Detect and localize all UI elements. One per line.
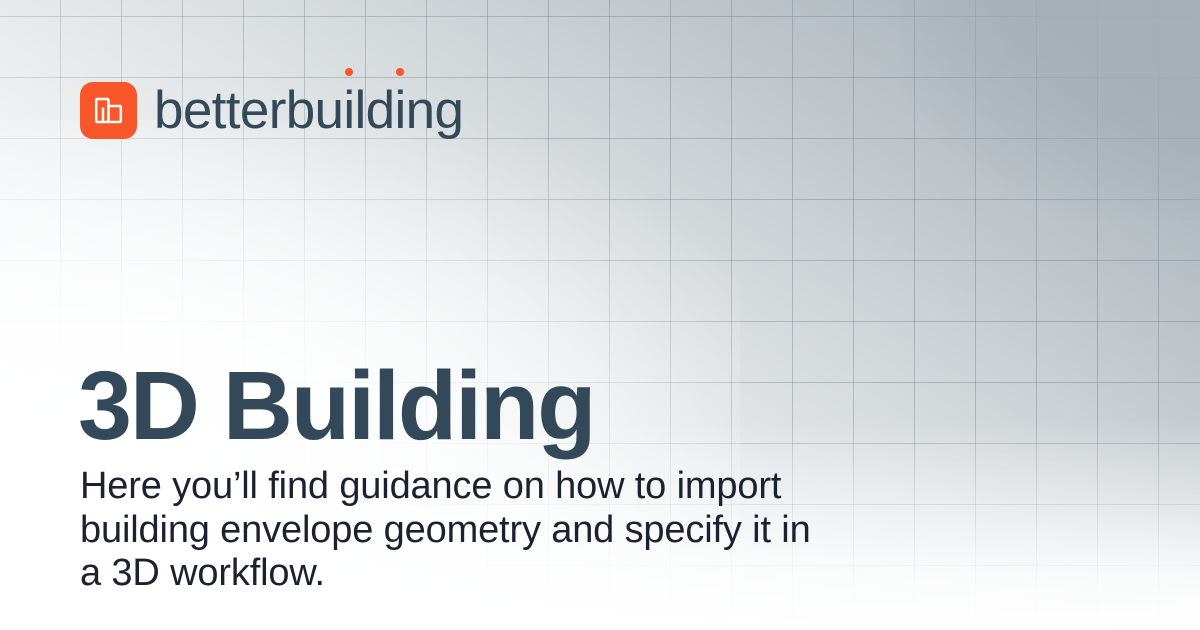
wordmark-ld: ld [355,84,395,137]
description-line: Here you’ll find guidance on how to impo… [80,465,880,509]
wordmark-i-second: i [395,84,406,137]
wordmark-tittle-second [396,68,404,76]
hero-content: betterbuilding 3D Building Here you’ll f… [0,0,1200,630]
wordmark-bu: bu [286,84,344,137]
wordmark-i-first: i [343,84,354,137]
hero-banner: betterbuilding 3D Building Here you’ll f… [0,0,1200,630]
description-line: building envelope geometry and specify i… [80,509,880,553]
brand-wordmark: betterbuilding [154,84,463,137]
brand-logo[interactable]: betterbuilding [80,82,463,139]
wordmark-i-glyph-first: i [343,81,354,140]
page-description: Here you’ll find guidance on how to impo… [80,465,880,596]
wordmark-i-glyph-second: i [395,81,406,140]
wordmark-prefix: better [154,84,286,137]
wordmark-ng: ng [406,84,464,137]
page-title: 3D Building [78,357,594,454]
building-blocks-icon [80,82,137,139]
wordmark-tittle-first [345,68,353,76]
description-line: a 3D workflow. [80,552,880,596]
